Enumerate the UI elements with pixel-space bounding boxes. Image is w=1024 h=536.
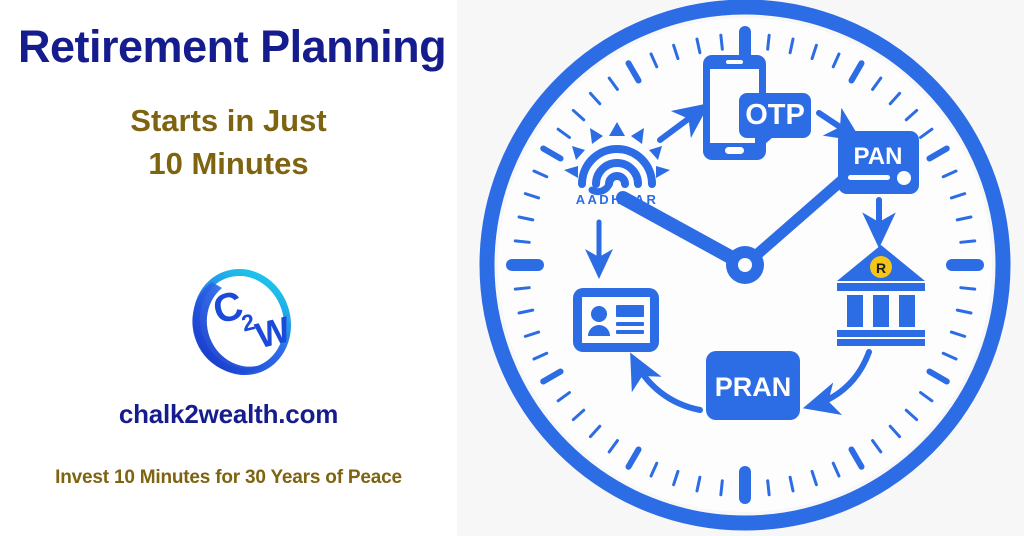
page-title: Retirement Planning (18, 23, 448, 71)
subheadline-line-2: 10 Minutes (0, 143, 457, 186)
bank-column-2 (873, 295, 889, 327)
aadhaar-label: AADHAAR (576, 192, 659, 207)
otp-label: OTP (745, 99, 805, 131)
bank-base-1 (837, 330, 925, 337)
brand-domain-text: chalk2wealth.com (0, 399, 457, 430)
clock-center-pin (738, 258, 752, 272)
pan-card-icon: PAN (838, 131, 919, 194)
bank-column-1 (847, 295, 863, 327)
subheadline: Starts in Just 10 Minutes (0, 100, 457, 186)
bank-rupee-badge: R (870, 256, 892, 278)
brand-logo: C 2 W (178, 262, 304, 388)
clock-illustration: AADHAAR OTP PAN (457, 0, 1024, 536)
pan-label: PAN (854, 143, 903, 170)
tagline-text: Invest 10 Minutes for 30 Years of Peace (0, 467, 457, 489)
phone-home-button (725, 147, 744, 154)
pran-badge-icon: PRAN (706, 351, 800, 420)
subheadline-line-1: Starts in Just (130, 103, 326, 138)
id-card-icon (573, 288, 659, 352)
pan-card-chip-dot (897, 171, 911, 185)
bank-entablature (837, 283, 925, 291)
left-content-column: Retirement Planning Starts in Just 10 Mi… (0, 0, 457, 536)
pran-label: PRAN (715, 372, 792, 402)
pan-card-line (848, 175, 890, 180)
id-card-inner (582, 297, 650, 343)
bank-column-3 (899, 295, 915, 327)
phone-speaker (726, 60, 743, 64)
poster-canvas: Retirement Planning Starts in Just 10 Mi… (0, 0, 1024, 536)
bank-base-2 (837, 339, 925, 346)
bank-badge-label: R (876, 260, 886, 276)
logo-wordmark: C 2 W (209, 273, 295, 364)
